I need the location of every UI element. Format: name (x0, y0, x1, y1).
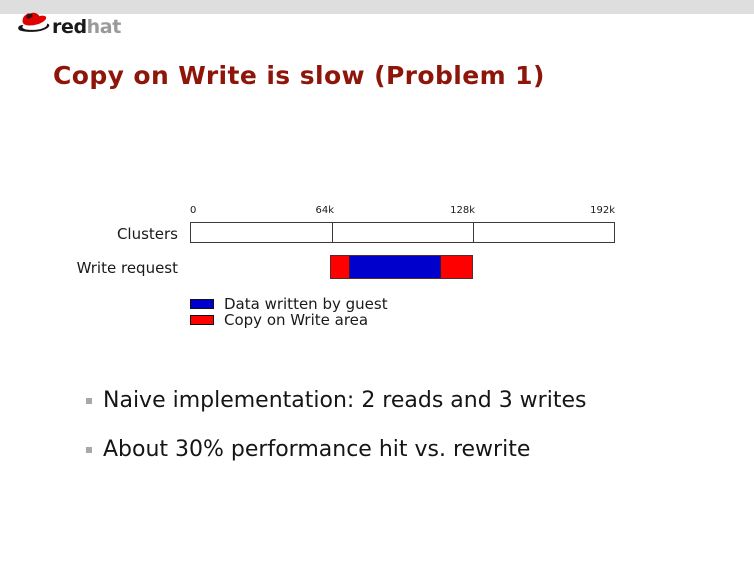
tick-label-192k: 192k (570, 205, 615, 216)
clusters-track (190, 222, 615, 243)
bullet-square-icon (86, 447, 92, 453)
cluster-divider-64k (332, 223, 333, 242)
diagram-legend: Data written by guest Copy on Write area (190, 296, 388, 328)
tick-label-0: 0 (190, 205, 230, 216)
slide-canvas: redhat Copy on Write is slow (Problem 1)… (0, 0, 754, 566)
legend-swatch-red (190, 315, 214, 325)
bullet-text: Naive implementation: 2 reads and 3 writ… (103, 387, 586, 415)
legend-item-data-written: Data written by guest (190, 296, 388, 312)
legend-swatch-blue (190, 299, 214, 309)
legend-item-cow-area: Copy on Write area (190, 312, 388, 328)
tick-label-128k: 128k (430, 205, 475, 216)
cow-cluster-diagram: Clusters Write request 0 64k 128k 192k D… (0, 0, 754, 340)
clusters-row-label: Clusters (0, 225, 178, 243)
write-request-segment-data (349, 256, 440, 278)
write-request-bar (330, 255, 473, 279)
bullet-list: Naive implementation: 2 reads and 3 writ… (86, 387, 706, 484)
bullet-square-icon (86, 398, 92, 404)
legend-label-cow-area: Copy on Write area (224, 311, 368, 329)
write-request-row-label: Write request (0, 259, 178, 277)
tick-label-64k: 64k (292, 205, 334, 216)
cluster-divider-128k (473, 223, 474, 242)
write-request-segment-cow-left (331, 256, 349, 278)
bullet-text: About 30% performance hit vs. rewrite (103, 436, 530, 464)
write-request-segment-cow-right (440, 256, 472, 278)
list-item: Naive implementation: 2 reads and 3 writ… (86, 387, 706, 415)
list-item: About 30% performance hit vs. rewrite (86, 436, 706, 464)
